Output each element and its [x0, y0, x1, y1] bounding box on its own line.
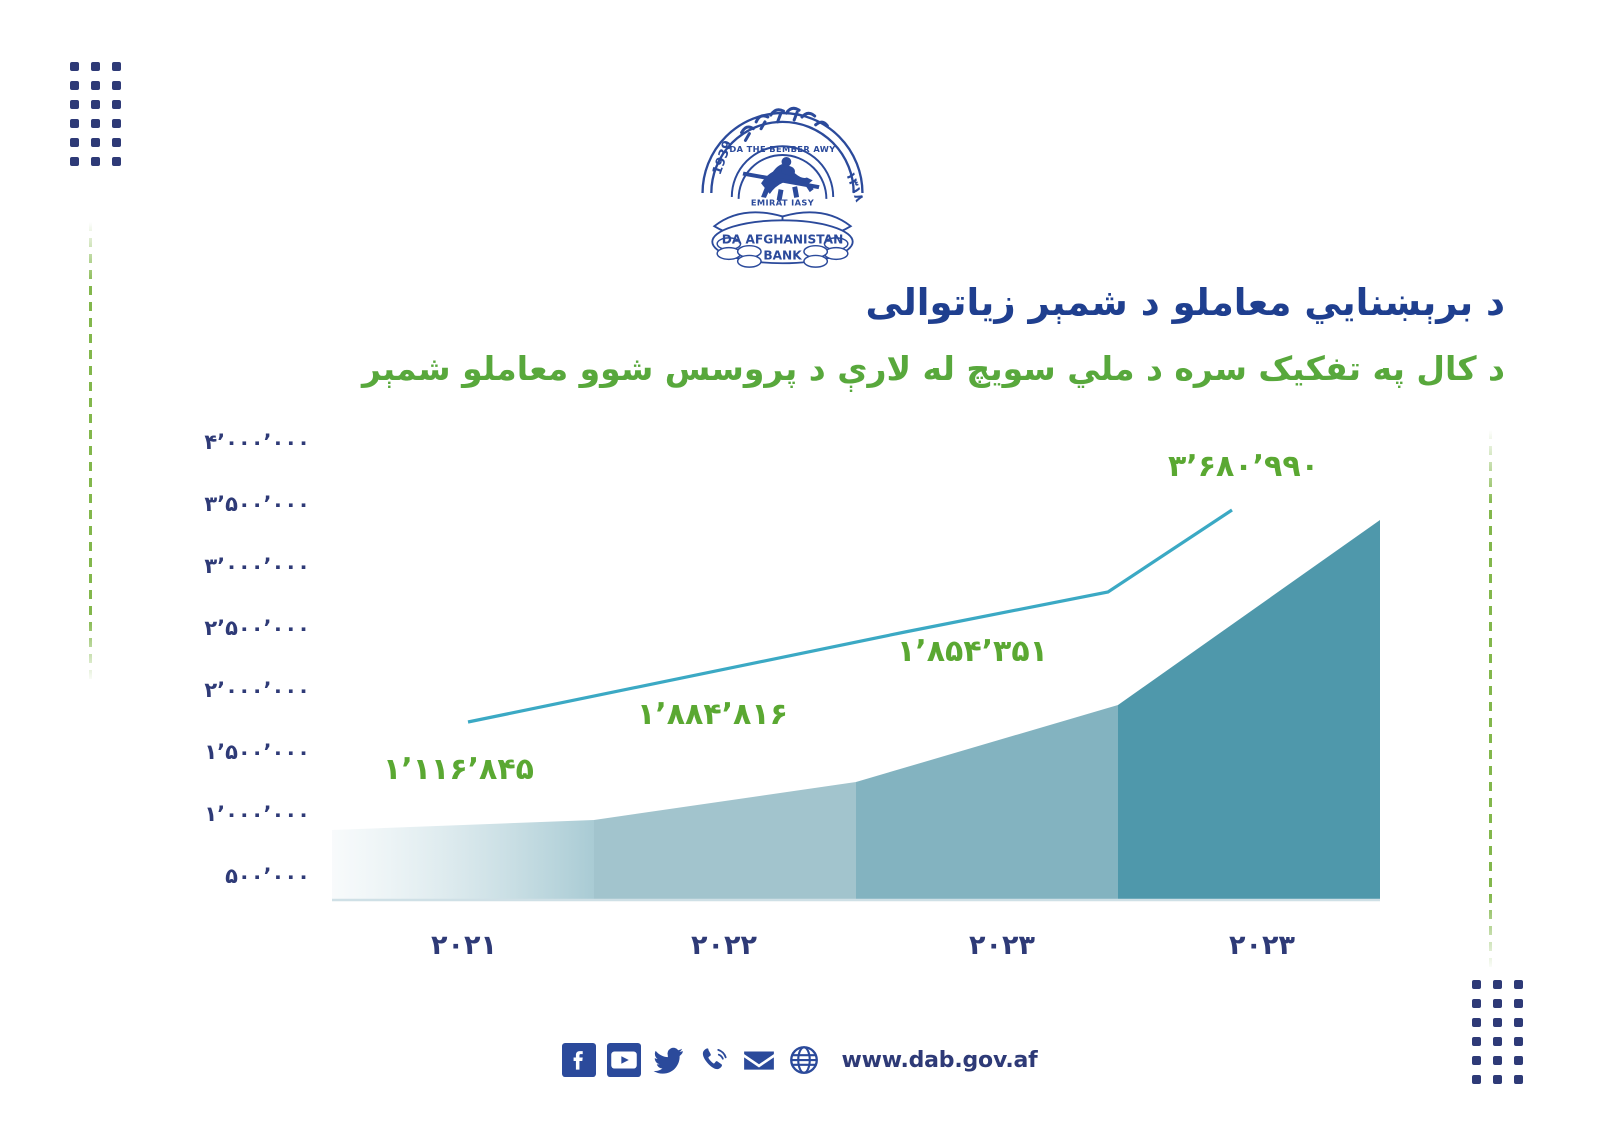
svg-text:EMIRAT IASY: EMIRAT IASY	[751, 198, 815, 208]
email-icon[interactable]	[742, 1043, 776, 1077]
page-subtitle: د کال په تفکیک سره د ملي سویچ له لارې د …	[325, 348, 1505, 389]
svg-text:BANK: BANK	[763, 248, 802, 262]
x-axis-tick-2023-3: ۲۰۲۳	[1182, 930, 1342, 961]
data-label-2021: ۱٬۱۱۶٬۸۴۵	[383, 752, 534, 787]
footer-social-bar: www.dab.gov.af	[0, 1030, 1600, 1090]
da-afghanistan-bank-logo: 1939 ۱۳۱۸ DA THE BEMBER AWY EMIRAT IASY	[685, 78, 880, 273]
data-label-2023a: ۱٬۸۵۴٬۳۵۱	[897, 634, 1048, 669]
svg-text:۱۳۱۸: ۱۳۱۸	[843, 169, 868, 203]
transactions-area-chart	[0, 400, 1600, 940]
title-block: د برېښنايي معاملو د شمېر زياتوالی د کال …	[325, 280, 1505, 390]
svg-text:DA THE BEMBER AWY: DA THE BEMBER AWY	[729, 144, 836, 154]
chart-area-bands	[332, 520, 1380, 900]
x-axis-tick-2022-1: ۲۰۲۲	[644, 930, 804, 961]
website-url[interactable]: www.dab.gov.af	[841, 1048, 1037, 1073]
x-axis-tick-2021-0: ۲۰۲۱	[384, 930, 544, 961]
decorative-dot-grid-top-left	[70, 62, 121, 166]
data-label-2023b: ۳٬۶۸۰٬۹۹۰	[1168, 449, 1319, 484]
data-label-2022: ۱٬۸۸۴٬۸۱۶	[637, 697, 788, 732]
youtube-icon[interactable]	[607, 1043, 641, 1077]
page-title: د برېښنايي معاملو د شمېر زياتوالی	[325, 280, 1505, 326]
svg-text:DA AFGHANISTAN: DA AFGHANISTAN	[722, 233, 844, 247]
phone-icon[interactable]	[697, 1043, 731, 1077]
globe-icon[interactable]	[787, 1043, 821, 1077]
twitter-icon[interactable]	[652, 1043, 686, 1077]
infographic-canvas: 1939 ۱۳۱۸ DA THE BEMBER AWY EMIRAT IASY	[0, 0, 1600, 1127]
chart-trend-line	[468, 510, 1232, 722]
chart-x-axis: ۲۰۲۱۲۰۲۲۲۰۲۳۲۰۲۳	[0, 930, 1600, 980]
facebook-icon[interactable]	[562, 1043, 596, 1077]
x-axis-tick-2023-2: ۲۰۲۳	[922, 930, 1082, 961]
